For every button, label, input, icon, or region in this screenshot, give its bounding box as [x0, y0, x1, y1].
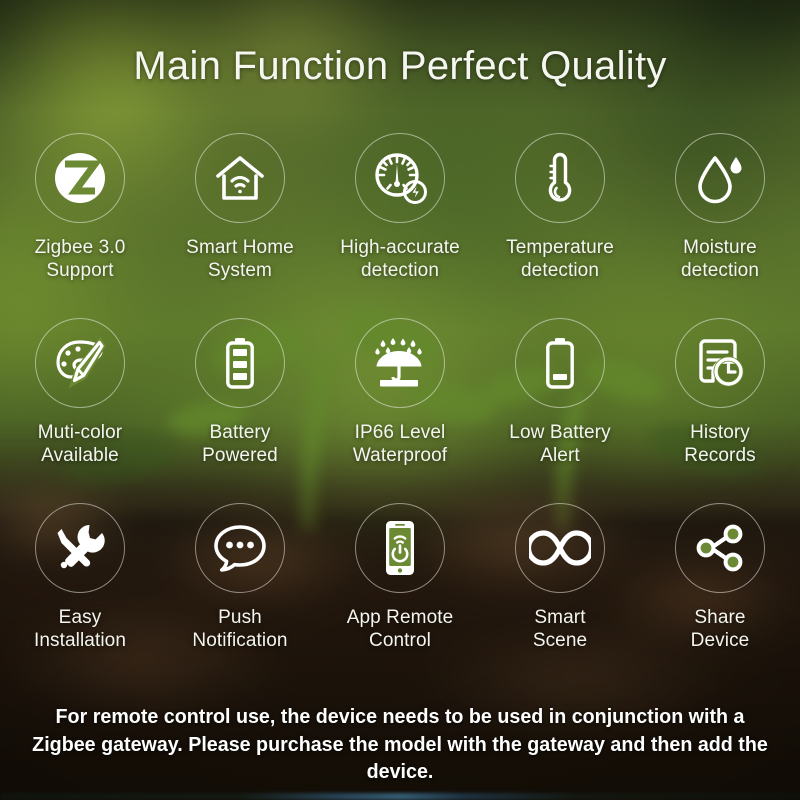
feature-grid: Zigbee 3.0 Support Smart Home System [0, 133, 800, 693]
feature-label: Zigbee 3.0 Support [35, 236, 126, 282]
feature-icon-circle [355, 503, 445, 593]
battery-low-icon [542, 335, 578, 391]
battery-full-icon [222, 335, 258, 391]
feature-icon-circle [675, 133, 765, 223]
feature-label: Moisture detection [681, 236, 759, 282]
feature-icon-circle [515, 318, 605, 408]
infinity-icon [529, 528, 591, 568]
feature-label: Low Battery Alert [509, 421, 610, 467]
feature-item-ip66-waterproof[interactable]: IP66 Level Waterproof [320, 318, 480, 503]
feature-icon-circle [515, 503, 605, 593]
feature-label: Share Device [691, 606, 750, 652]
speech-bubble-dots-icon [212, 522, 268, 574]
feature-item-zigbee-support[interactable]: Zigbee 3.0 Support [0, 133, 160, 318]
feature-item-battery-powered[interactable]: Battery Powered [160, 318, 320, 503]
feature-icon-circle [675, 318, 765, 408]
feature-label: Smart Scene [533, 606, 587, 652]
feature-label: Battery Powered [202, 421, 278, 467]
feature-label: IP66 Level Waterproof [353, 421, 447, 467]
feature-item-share-device[interactable]: Share Device [640, 503, 800, 693]
feature-icon-circle [35, 133, 125, 223]
feature-icon-circle [35, 318, 125, 408]
zigbee-logo-icon [53, 151, 107, 205]
tools-wrench-screwdriver-icon [53, 521, 107, 575]
page-title: Main Function Perfect Quality [0, 44, 800, 89]
color-palette-brush-icon [53, 336, 107, 390]
smart-home-wifi-icon [213, 153, 267, 203]
footer-line-1: For remote control use, the device needs… [29, 703, 770, 731]
feature-item-smart-home[interactable]: Smart Home System [160, 133, 320, 318]
feature-item-low-battery-alert[interactable]: Low Battery Alert [480, 318, 640, 503]
feature-label: History Records [684, 421, 755, 467]
feature-icon-circle [195, 318, 285, 408]
feature-row: Easy Installation Push Notification [0, 503, 800, 693]
umbrella-rain-icon [371, 337, 429, 389]
gauge-accuracy-icon [372, 150, 428, 206]
feature-item-smart-scene[interactable]: Smart Scene [480, 503, 640, 693]
feature-icon-circle [195, 503, 285, 593]
feature-row: Zigbee 3.0 Support Smart Home System [0, 133, 800, 318]
feature-label: App Remote Control [347, 606, 454, 652]
phone-remote-power-icon [380, 519, 420, 577]
feature-label: Muti-color Available [38, 421, 122, 467]
feature-item-app-remote-control[interactable]: App Remote Control [320, 503, 480, 693]
feature-icon-circle [675, 503, 765, 593]
document-clock-icon [693, 336, 747, 390]
footer-note: For remote control use, the device needs… [16, 703, 784, 786]
feature-label: Temperature detection [506, 236, 614, 282]
feature-item-easy-installation[interactable]: Easy Installation [0, 503, 160, 693]
feature-label: Smart Home System [186, 236, 294, 282]
feature-icon-circle [515, 133, 605, 223]
water-drop-icon [693, 151, 747, 205]
thermometer-icon [539, 150, 581, 206]
feature-item-moisture-detection[interactable]: Moisture detection [640, 133, 800, 318]
feature-item-temperature-detection[interactable]: Temperature detection [480, 133, 640, 318]
feature-item-history-records[interactable]: History Records [640, 318, 800, 503]
feature-item-push-notification[interactable]: Push Notification [160, 503, 320, 693]
feature-row: Muti-color Available Battery Powered [0, 318, 800, 503]
feature-label: Push Notification [192, 606, 287, 652]
share-network-icon [693, 523, 747, 573]
footer-line-2: Zigbee gateway. Please purchase the mode… [29, 731, 770, 786]
feature-icon-circle [35, 503, 125, 593]
feature-icon-circle [195, 133, 285, 223]
feature-icon-circle [355, 318, 445, 408]
feature-label: High-accurate detection [340, 236, 460, 282]
feature-icon-circle [355, 133, 445, 223]
feature-item-multi-color[interactable]: Muti-color Available [0, 318, 160, 503]
feature-label: Easy Installation [34, 606, 126, 652]
feature-item-high-accurate-detection[interactable]: High-accurate detection [320, 133, 480, 318]
